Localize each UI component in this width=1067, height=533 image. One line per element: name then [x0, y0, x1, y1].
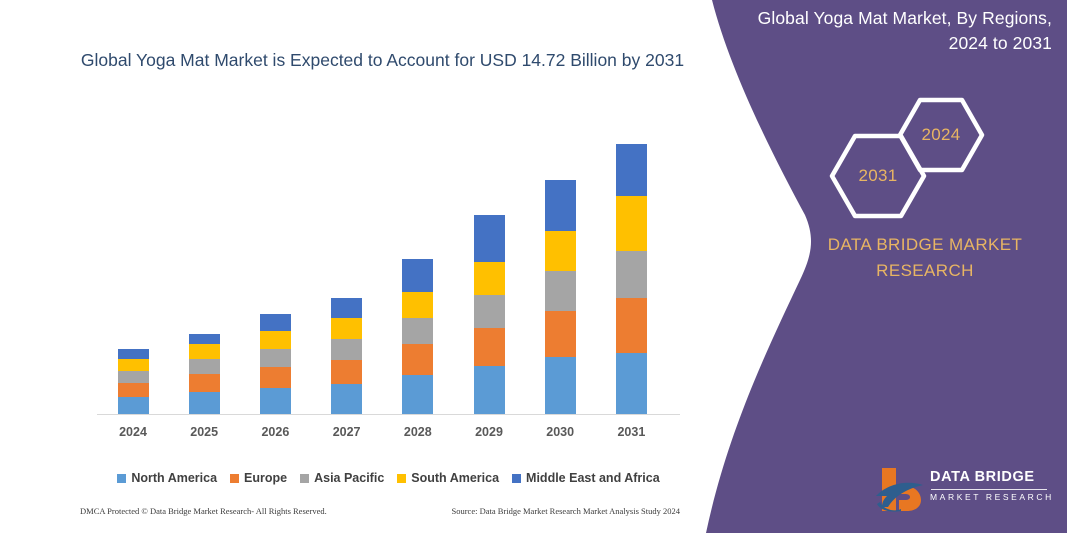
bar-2028: [402, 259, 433, 414]
bar-segment: [402, 292, 433, 318]
logo-title: DATA BRIDGE: [930, 469, 1035, 485]
bar-segment: [189, 392, 220, 414]
x-axis-label-2031: 2031: [595, 425, 667, 439]
bar-segment: [474, 328, 505, 366]
panel-title: Global Yoga Mat Market, By Regions, 2024…: [736, 6, 1052, 57]
footer-copyright: DMCA Protected © Data Bridge Market Rese…: [80, 506, 327, 516]
x-axis-label-2027: 2027: [311, 425, 383, 439]
bar-segment: [545, 357, 576, 414]
data-bridge-logo: DATA BRIDGE MARKET RESEARCH: [874, 466, 1054, 514]
bar-2027: [331, 298, 362, 414]
legend-label: South America: [411, 471, 499, 485]
bar-segment: [402, 259, 433, 292]
x-axis-label-2025: 2025: [168, 425, 240, 439]
bar-segment: [260, 388, 291, 414]
bar-segment: [331, 384, 362, 414]
logo-divider: [931, 489, 1047, 490]
bar-segment: [545, 311, 576, 357]
bar-segment: [260, 367, 291, 388]
bar-segment: [474, 262, 505, 295]
bar-segment: [616, 196, 647, 251]
bar-segment: [189, 374, 220, 392]
legend-label: Middle East and Africa: [526, 471, 660, 485]
legend-swatch-icon: [300, 474, 309, 483]
bar-segment: [189, 334, 220, 344]
bar-segment: [118, 397, 149, 414]
legend-swatch-icon: [512, 474, 521, 483]
bar-2025: [189, 334, 220, 414]
bar-2031: [616, 144, 647, 414]
hexagon-2031-label: 2031: [858, 166, 897, 186]
bar-segment: [189, 344, 220, 359]
hexagon-group: 2031 2024: [818, 96, 998, 206]
legend-label: Europe: [244, 471, 287, 485]
logo-mark-icon: [874, 466, 930, 512]
bar-segment: [118, 371, 149, 383]
bar-segment: [616, 251, 647, 298]
bar-2030: [545, 180, 576, 414]
brand-name: DATA BRIDGE MARKET RESEARCH: [790, 232, 1060, 283]
bar-segment: [545, 231, 576, 271]
bar-2024: [118, 349, 149, 414]
legend-swatch-icon: [397, 474, 406, 483]
legend-label: North America: [131, 471, 217, 485]
bar-segment: [260, 331, 291, 349]
bar-segment: [402, 318, 433, 344]
bar-segment: [474, 366, 505, 414]
legend-swatch-icon: [230, 474, 239, 483]
bar-segment: [545, 271, 576, 311]
bar-segment: [545, 180, 576, 231]
legend-item-middle-east-and-africa[interactable]: Middle East and Africa: [512, 471, 660, 485]
bar-segment: [189, 359, 220, 374]
bar-segment: [402, 344, 433, 375]
infographic-slide: Global Yoga Mat Market, By Regions, 2024…: [0, 0, 1067, 533]
bar-segment: [118, 359, 149, 371]
bar-segment: [118, 383, 149, 397]
bar-segment: [260, 314, 291, 331]
bar-segment: [331, 318, 362, 339]
x-axis-line: [97, 414, 680, 415]
bar-segment: [331, 339, 362, 360]
x-axis-label-2026: 2026: [239, 425, 311, 439]
hexagon-2024-label: 2024: [921, 125, 960, 145]
chart-legend: North AmericaEuropeAsia PacificSouth Ame…: [97, 471, 680, 485]
legend-item-south-america[interactable]: South America: [397, 471, 499, 485]
logo-subtitle: MARKET RESEARCH: [930, 492, 1054, 502]
bar-segment: [616, 144, 647, 196]
bar-segment: [118, 349, 149, 359]
legend-swatch-icon: [117, 474, 126, 483]
legend-item-asia-pacific[interactable]: Asia Pacific: [300, 471, 384, 485]
bar-segment: [402, 375, 433, 414]
bar-2026: [260, 314, 291, 414]
bar-segment: [616, 353, 647, 414]
x-axis-label-2028: 2028: [382, 425, 454, 439]
footer-source: Source: Data Bridge Market Research Mark…: [451, 506, 680, 516]
legend-label: Asia Pacific: [314, 471, 384, 485]
x-axis-label-2024: 2024: [97, 425, 169, 439]
legend-item-north-america[interactable]: North America: [117, 471, 217, 485]
footer: DMCA Protected © Data Bridge Market Rese…: [80, 506, 680, 516]
bar-segment: [260, 349, 291, 367]
x-axis-label-2030: 2030: [524, 425, 596, 439]
bar-segment: [474, 295, 505, 328]
hexagon-2024: 2024: [896, 96, 986, 174]
legend-item-europe[interactable]: Europe: [230, 471, 287, 485]
bar-segment: [331, 298, 362, 318]
bar-segment: [331, 360, 362, 384]
stacked-bar-chart: 20242025202620272028202920302031: [0, 0, 700, 460]
x-axis-label-2029: 2029: [453, 425, 525, 439]
bar-segment: [474, 215, 505, 262]
bar-segment: [616, 298, 647, 353]
bar-2029: [474, 215, 505, 414]
